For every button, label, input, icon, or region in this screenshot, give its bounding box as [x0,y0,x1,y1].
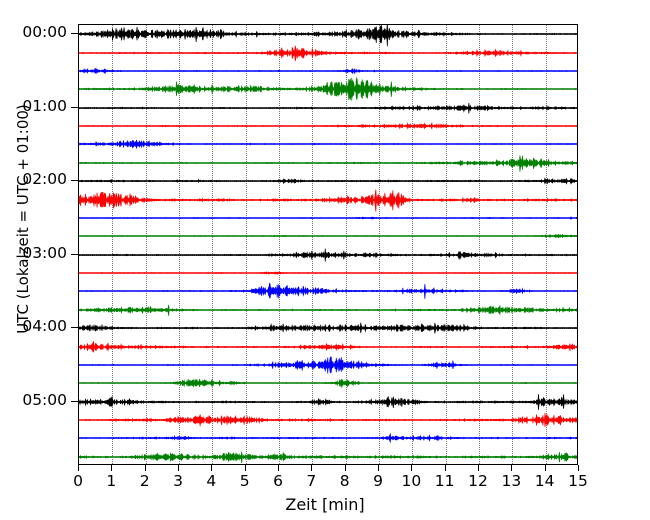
x-axis-tick [578,465,579,471]
seismogram-trace [79,255,577,291]
x-axis-tick [311,465,312,471]
y-gridline [79,108,577,109]
x-gridline [212,25,213,464]
x-axis-tick [411,465,412,471]
x-axis-tick [345,465,346,471]
y-axis-tick [71,327,78,328]
y-axis-tick-label: 00:00 [5,23,67,41]
x-gridline [179,25,180,464]
x-axis-tick [545,465,546,471]
figure-root: 00:0001:0002:0003:0004:0005:000123456789… [0,0,650,520]
x-gridline [379,25,380,464]
x-gridline [346,25,347,464]
seismogram-trace [79,439,577,464]
seismogram-trace [79,402,577,438]
x-gridline [279,25,280,464]
x-gridline [146,25,147,464]
y-axis-tick-label: 05:00 [5,391,67,409]
plot-area [79,25,577,464]
seismogram-trace [79,145,577,181]
x-axis-tick [78,465,79,471]
y-axis-tick [71,107,78,108]
x-axis-tick [245,465,246,471]
x-axis-tick [178,465,179,471]
x-gridline [246,25,247,464]
y-gridline [79,255,577,256]
y-axis-tick [71,33,78,34]
seismogram-trace [79,329,577,365]
x-gridline [112,25,113,464]
seismogram-trace [79,53,577,89]
x-gridline [479,25,480,464]
y-gridline [79,402,577,403]
y-axis-tick [71,254,78,255]
x-gridline [546,25,547,464]
seismogram-trace [79,365,577,401]
seismogram-trace [79,25,577,52]
x-gridline [412,25,413,464]
seismogram-trace [79,71,577,107]
seismogram-trace [79,200,577,236]
y-gridline [79,181,577,182]
seismogram-trace [79,182,577,218]
y-axis-tick [71,401,78,402]
x-axis-tick [378,465,379,471]
seismogram-trace [79,35,577,71]
seismogram-trace [79,108,577,144]
x-gridline [512,25,513,464]
x-axis-tick-label: 15 [558,472,598,490]
seismogram-trace [79,347,577,383]
seismogram-trace [79,126,577,162]
seismogram-trace [79,420,577,456]
x-axis-tick [111,465,112,471]
x-axis-tick [445,465,446,471]
x-axis-tick [278,465,279,471]
x-axis-tick [511,465,512,471]
plot-frame [78,24,578,465]
x-gridline [446,25,447,464]
x-axis-tick [145,465,146,471]
seismogram-trace [79,292,577,328]
seismogram-trace [79,273,577,309]
x-axis-tick [478,465,479,471]
y-axis-title: UTC (Lokalzeit = UTC + 01:00) [14,74,32,364]
x-gridline [312,25,313,464]
x-axis-tick [211,465,212,471]
x-axis-title: Zeit [min] [0,495,650,514]
y-gridline [79,328,577,329]
y-axis-tick [71,180,78,181]
seismogram-trace [79,218,577,254]
